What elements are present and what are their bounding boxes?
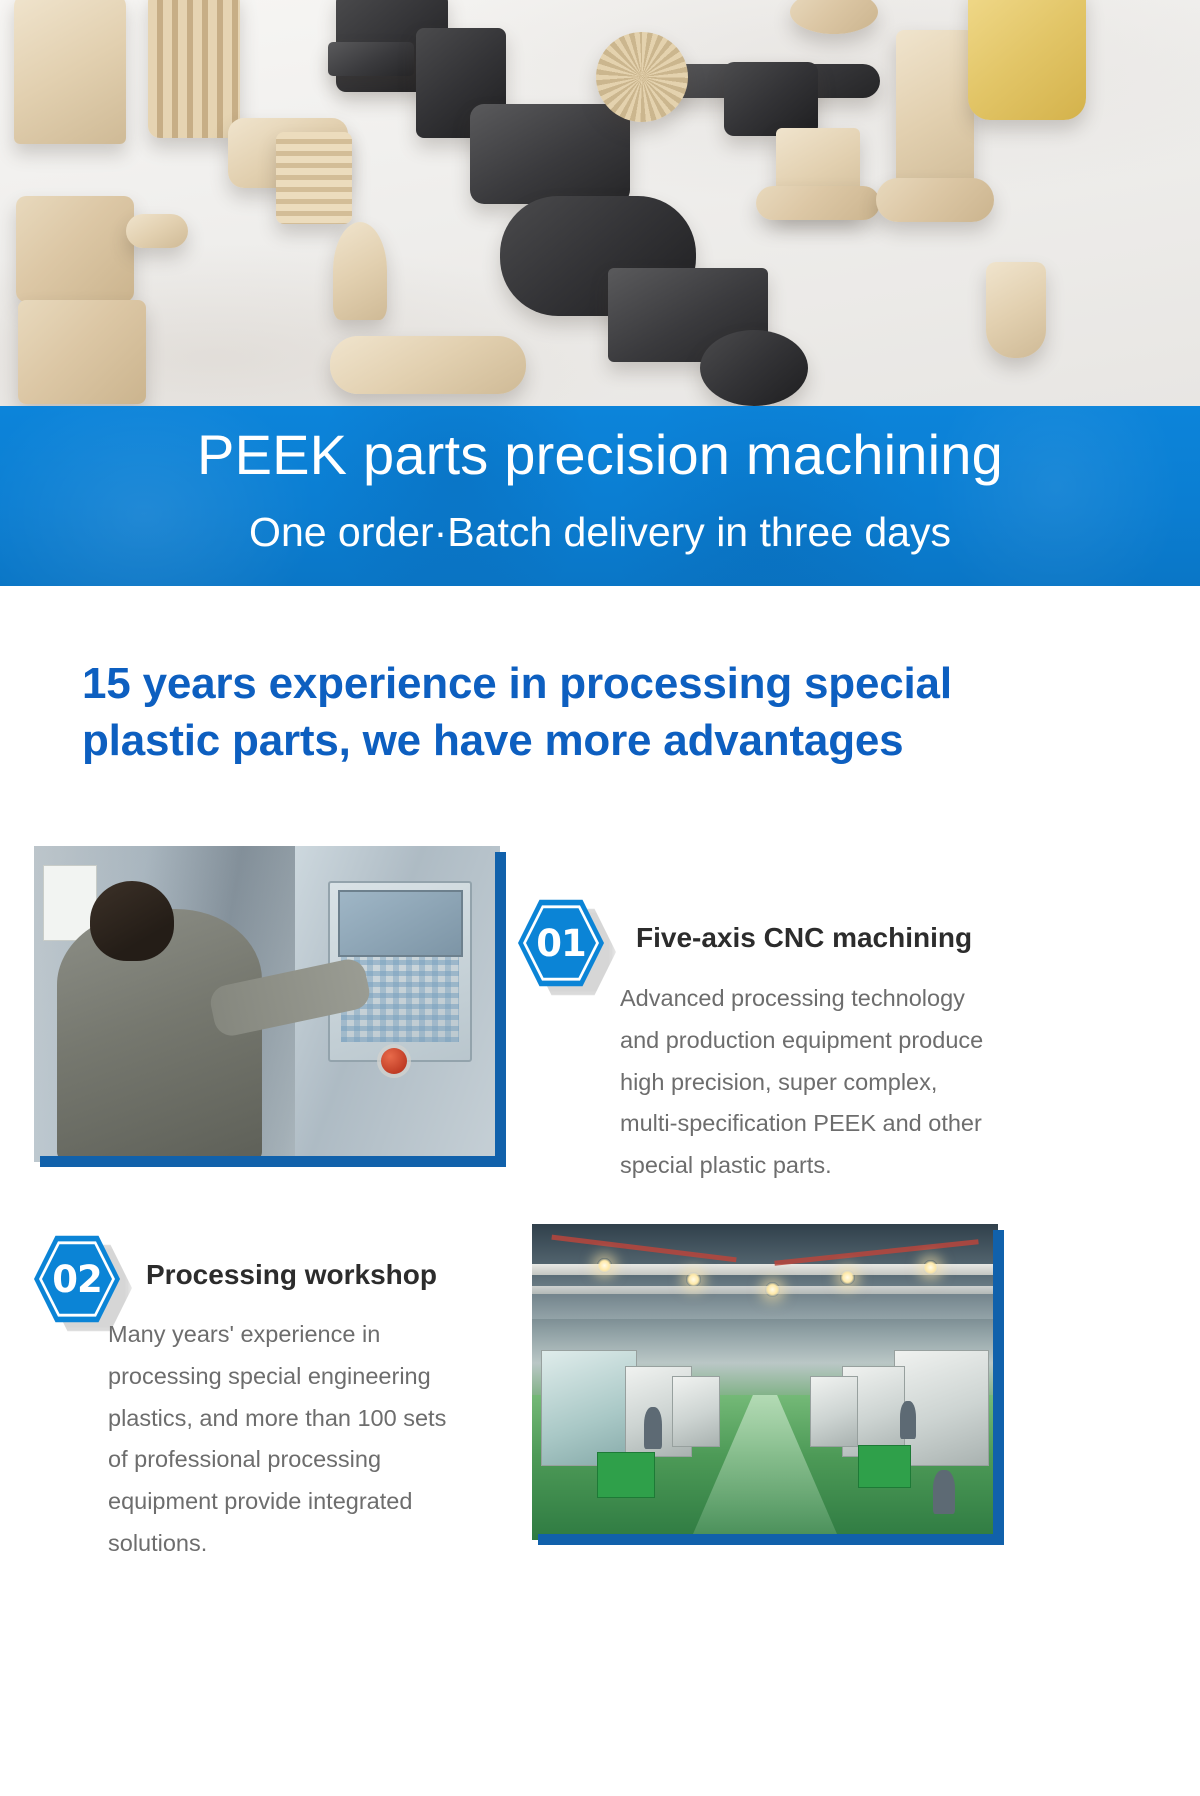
part-roller-body — [724, 62, 818, 136]
ceiling-lamp-2 — [686, 1272, 701, 1287]
part-nozzle — [126, 214, 188, 248]
hero-banner: PEEK parts precision machining One order… — [0, 406, 1200, 586]
worker-3 — [933, 1470, 955, 1514]
part-large-sleeve — [896, 30, 974, 198]
feature-01-title: Five-axis CNC machining — [636, 922, 972, 954]
part-cone-tip — [333, 222, 387, 320]
green-cart-2 — [858, 1445, 911, 1488]
feature-01-body-line-2: and production equipment produce — [620, 1020, 1050, 1062]
feature-02-body: Many years' experience in processing spe… — [108, 1314, 528, 1565]
hero-product-photo — [0, 0, 1200, 406]
feature-01-body-line-5: special plastic parts. — [620, 1145, 1050, 1187]
banner-subtitle: One order·Batch delivery in three days — [0, 510, 1200, 555]
feature-02-body-line-4: of professional processing — [108, 1439, 528, 1481]
feature-02-body-line-5: equipment provide integrated — [108, 1481, 528, 1523]
headline-line-2: plastic parts, we have more advantages — [82, 712, 1102, 769]
photo-frame-accent-bottom-2 — [538, 1534, 1004, 1545]
photo-frame-accent-right — [495, 852, 506, 1167]
cnc-display-screen — [338, 890, 463, 957]
feature-02-photo — [532, 1224, 998, 1540]
emergency-stop-button — [381, 1048, 407, 1074]
ceiling-lamp-4 — [840, 1270, 855, 1285]
headline-line-1: 15 years experience in processing specia… — [82, 659, 952, 708]
part-gear — [596, 32, 688, 122]
part-spool — [14, 0, 126, 144]
machine-right-3 — [810, 1376, 859, 1448]
part-collar — [876, 178, 994, 222]
part-round-flange-black — [700, 330, 808, 406]
photo-frame-accent-bottom — [40, 1156, 506, 1167]
part-threaded-bushing — [276, 132, 352, 224]
part-manifold-block — [470, 104, 630, 204]
part-flanged-spacer — [756, 186, 880, 220]
part-plug — [986, 262, 1046, 358]
cnc-operator-image — [34, 846, 500, 1162]
worker-1 — [644, 1407, 662, 1449]
worker-2 — [900, 1401, 916, 1439]
part-drilled-link-bar — [330, 336, 526, 394]
part-amber-cup — [968, 0, 1086, 120]
feature-01-photo — [34, 846, 500, 1162]
section-headline: 15 years experience in processing specia… — [82, 655, 1102, 769]
feature-01-body-line-4: multi-specification PEEK and other — [620, 1103, 1050, 1145]
workshop-image — [532, 1224, 998, 1540]
machine-left-3 — [672, 1376, 721, 1448]
feature-01-body: Advanced processing technology and produ… — [620, 978, 1050, 1187]
feature-01-body-line-1: Advanced processing technology — [620, 978, 1050, 1020]
feature-02-body-line-3: plastics, and more than 100 sets — [108, 1398, 528, 1440]
ceiling-lamp-3 — [765, 1282, 780, 1297]
feature-02-body-line-1: Many years' experience in — [108, 1314, 528, 1356]
feature-02-body-line-2: processing special engineering — [108, 1356, 528, 1398]
photo-frame-accent-right-2 — [993, 1230, 1004, 1545]
green-cart-1 — [597, 1452, 655, 1498]
feature-01-badge: 01 — [518, 897, 604, 989]
machine-left-1 — [541, 1350, 636, 1466]
part-hex-nipple — [328, 42, 414, 76]
feature-02-badge: 02 — [34, 1233, 120, 1325]
banner-title: PEEK parts precision machining — [0, 426, 1200, 485]
technician-head — [90, 881, 174, 961]
feature-01-body-line-3: high precision, super complex, — [620, 1062, 1050, 1104]
feature-01-number: 01 — [518, 897, 604, 989]
feature-02-title: Processing workshop — [146, 1259, 437, 1291]
part-slotted-cage — [148, 0, 240, 138]
feature-02-number: 02 — [34, 1233, 120, 1325]
part-valve-block — [16, 196, 134, 302]
feature-02-body-line-6: solutions. — [108, 1523, 528, 1565]
part-bracket — [18, 300, 146, 404]
